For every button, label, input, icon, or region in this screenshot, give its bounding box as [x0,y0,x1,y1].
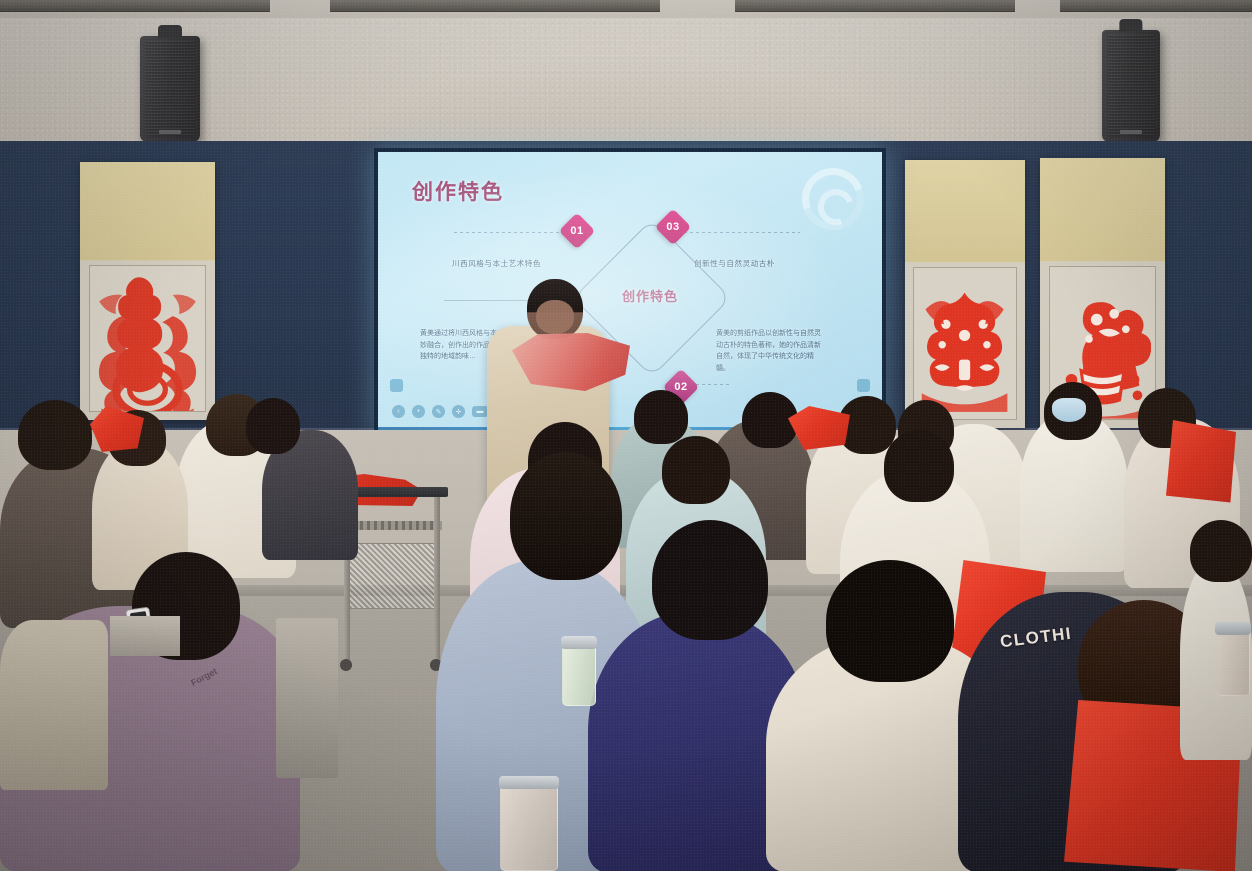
papercut-double-phoenix-icon [918,274,1011,414]
screen-toolbar[interactable]: ‹ • ✎ ✛ ▬ [392,405,488,418]
scroll-top-band [905,160,1025,262]
ceiling-rail-left [0,0,270,12]
eraser-icon[interactable]: ▬ [472,406,488,417]
screen-corner-marker-left[interactable] [390,379,403,392]
water-bottle-mid[interactable] [562,644,596,706]
ceiling-rail-mid [330,0,660,12]
speaker-badge [159,130,181,134]
audience-head [18,400,92,470]
scroll-top-band [1040,158,1165,261]
scroll-top-band [80,162,215,260]
desk-left [276,618,338,778]
water-bottle-right[interactable] [1216,630,1250,696]
audience-head [1190,520,1252,582]
speaker-grille [145,41,195,137]
pen-icon[interactable]: ✎ [432,405,445,418]
wall-art-scroll-1 [80,162,215,420]
speaker-right [1102,30,1160,142]
red-papercut-sheet [1166,420,1236,506]
audience-head [634,390,688,444]
podium-wheel-left [340,659,352,671]
audience-head [510,452,622,580]
slide-badge-01: 01 [559,213,596,250]
podium-leg-right [434,497,440,667]
presenter-face [536,300,574,334]
slide-center-label: 创作特色 [590,286,710,305]
speaker-mount-icon [158,25,182,38]
slide-badge-03-label: 03 [660,214,686,240]
select-icon[interactable]: ✛ [452,405,465,418]
slide-subtitle-right: 创新性与自然灵动古朴 [694,258,775,269]
audience-head [826,560,954,682]
papercut-frame [913,267,1016,420]
screen-corner-marker-right[interactable] [857,379,870,392]
audience-head [662,436,730,504]
classroom-photo: 创作特色 创作特色 01 03 02 川西风格与本土艺术特色 创新性与自然灵动古… [0,0,1252,871]
audience-head [652,520,768,640]
podium-mesh-panel [346,543,438,609]
ceiling-rail-right [735,0,1015,12]
audience-head [246,398,300,454]
audience-shoulder [0,620,108,790]
speaker-mount-icon [1119,19,1142,32]
slide-body-right: 黄美的剪纸作品以创新性与自然灵动古朴的特色著称，她的作品清新自然，体现了中华传统… [716,328,824,374]
slide-subtitle-left: 川西风格与本土艺术特色 [452,258,541,269]
speaker-left [140,36,200,142]
decorative-swirl-icon [792,158,874,240]
bottle-cap [499,776,559,789]
connector-line-right [678,232,800,233]
back-arrow-icon[interactable]: ‹ [392,405,405,418]
slide-badge-03: 03 [655,209,692,246]
projector-screen[interactable]: 创作特色 创作特色 01 03 02 川西风格与本土艺术特色 创新性与自然灵动古… [374,148,886,436]
bottle-cap [561,636,597,649]
ceiling-rail-far-right [1060,0,1252,12]
desk-left-top [110,616,180,656]
speaker-badge [1120,130,1142,134]
audience-head [884,430,954,502]
slide-badge-01-label: 01 [564,218,590,244]
slide-title: 创作特色 [412,176,504,206]
face-mask [1052,398,1086,422]
wall-art-scroll-2 [905,160,1025,428]
water-bottle-front[interactable] [500,784,558,871]
cursor-icon[interactable]: • [412,405,425,418]
presentation-slide: 创作特色 创作特色 01 03 02 川西风格与本土艺术特色 创新性与自然灵动古… [378,152,882,432]
papercut-phoenix-gourd-icon [95,272,200,412]
papercut-frame [89,265,205,412]
bottle-cap [1215,622,1251,635]
speaker-grille [1107,35,1155,137]
